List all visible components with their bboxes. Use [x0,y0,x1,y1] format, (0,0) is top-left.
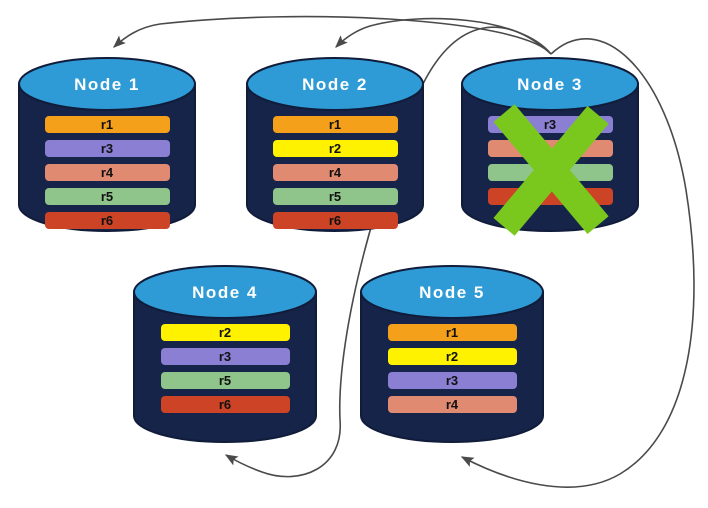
node-2-row-r5[interactable]: r5 [273,188,398,205]
node-2-row-r2[interactable]: r2 [273,140,398,157]
node-3-row-r3[interactable]: r3 [488,116,613,133]
node-3-rows: r3 [461,116,639,205]
diagram-canvas: Node 1r1r3r4r5r6Node 2r1r2r4r5r6Node 3r3… [0,0,708,508]
node-5[interactable]: Node 5r1r2r3r4 [360,265,544,443]
node-5-row-r1[interactable]: r1 [388,324,517,341]
node-3-row-slot-4[interactable] [488,188,613,205]
node-3-label: Node 3 [461,75,639,95]
node-2[interactable]: Node 2r1r2r4r5r6 [246,57,424,232]
node-4-row-r5[interactable]: r5 [161,372,290,389]
node-1-label: Node 1 [18,75,196,95]
node-2-row-r6[interactable]: r6 [273,212,398,229]
node-2-row-r1[interactable]: r1 [273,116,398,133]
node-4-rows: r2r3r5r6 [133,324,317,413]
node-2-row-r4[interactable]: r4 [273,164,398,181]
node-5-rows: r1r2r3r4 [360,324,544,413]
node-1-row-r1[interactable]: r1 [45,116,170,133]
node-1-row-r3[interactable]: r3 [45,140,170,157]
node-1-row-r6[interactable]: r6 [45,212,170,229]
edge-node3-to-node1 [114,17,551,54]
node-3-row-slot-3[interactable] [488,164,613,181]
node-5-label: Node 5 [360,283,544,303]
node-1-row-r5[interactable]: r5 [45,188,170,205]
node-5-row-r2[interactable]: r2 [388,348,517,365]
node-4-row-r3[interactable]: r3 [161,348,290,365]
node-2-label: Node 2 [246,75,424,95]
node-3-row-slot-2[interactable] [488,140,613,157]
node-1-row-r4[interactable]: r4 [45,164,170,181]
node-4[interactable]: Node 4r2r3r5r6 [133,265,317,443]
node-5-row-r3[interactable]: r3 [388,372,517,389]
node-4-row-r6[interactable]: r6 [161,396,290,413]
node-1-rows: r1r3r4r5r6 [18,116,196,229]
node-3[interactable]: Node 3r3 [461,57,639,232]
node-2-rows: r1r2r4r5r6 [246,116,424,229]
node-5-row-r4[interactable]: r4 [388,396,517,413]
node-4-label: Node 4 [133,283,317,303]
node-4-row-r2[interactable]: r2 [161,324,290,341]
edge-node3-to-node2 [336,19,551,54]
node-1[interactable]: Node 1r1r3r4r5r6 [18,57,196,232]
